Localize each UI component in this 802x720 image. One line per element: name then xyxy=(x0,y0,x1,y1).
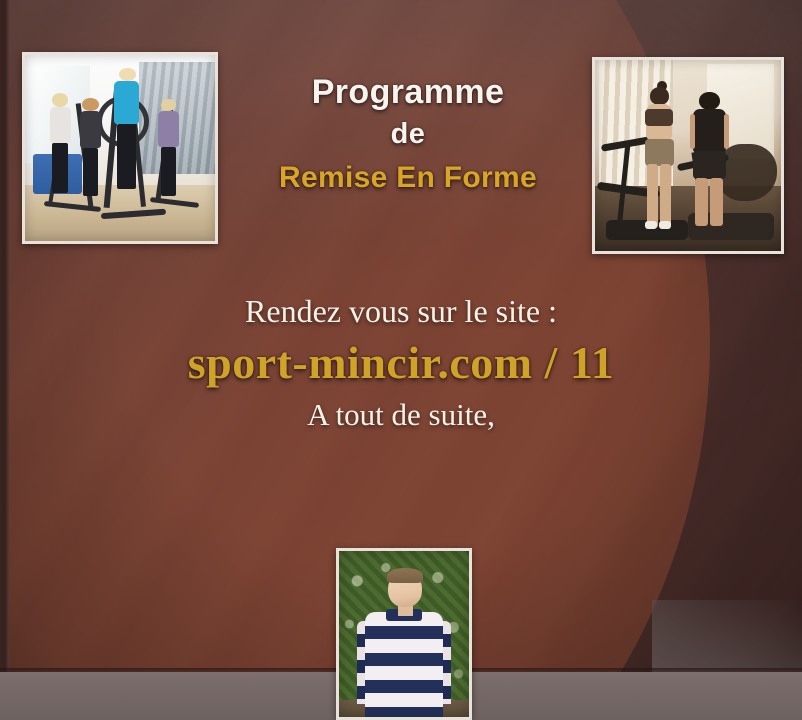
portrait-scene xyxy=(339,551,469,717)
photo-left-inner-shadow xyxy=(25,55,215,241)
title-line-remise-en-forme: Remise En Forme xyxy=(228,156,588,200)
cta-closing-text: A tout de suite, xyxy=(141,394,661,436)
title-block: Programme de Remise En Forme xyxy=(228,72,588,200)
gym-scene-right xyxy=(595,60,781,251)
photo-gym-couple-ellipticals xyxy=(592,57,784,254)
video-frame: Programme de Remise En Forme Rendez vous… xyxy=(0,0,802,720)
photo-presenter-portrait xyxy=(336,548,472,720)
title-line-de: de xyxy=(228,112,588,156)
title-line-programme: Programme xyxy=(228,72,588,112)
left-letterbox-bar xyxy=(0,0,9,720)
gym-scene-left xyxy=(25,55,215,241)
cta-invite-text: Rendez vous sur le site : xyxy=(141,290,661,332)
photo-gym-ellipticals-women xyxy=(22,52,218,244)
photo-portrait-inner-shadow xyxy=(339,551,469,717)
photo-right-inner-shadow xyxy=(595,60,781,251)
call-to-action-block: Rendez vous sur le site : sport-mincir.c… xyxy=(141,290,661,436)
cta-website-url[interactable]: sport-mincir.com / 11 xyxy=(141,332,661,394)
